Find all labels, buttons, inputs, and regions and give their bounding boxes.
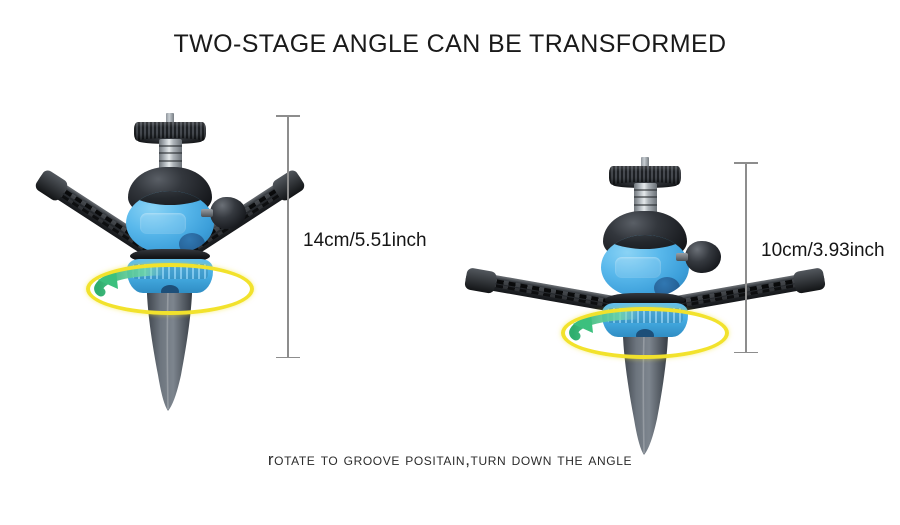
blue-ball-head [126,191,214,253]
black-locking-knob [685,241,721,273]
leg-foot [464,267,498,294]
yellow-rotation-ring [86,263,254,315]
dimension-left-label: 14cm/5.51inch [303,230,427,252]
product-illustration: TWO-STAGE ANGLE CAN BE TRANSFORMED [0,0,900,525]
blue-ball-head [601,235,689,297]
page-title: TWO-STAGE ANGLE CAN BE TRANSFORMED [0,30,900,59]
dimension-right-label: 10cm/3.93inch [761,240,885,262]
black-locking-knob [210,197,246,229]
instruction-caption: Rotate to groove positain,turn down the … [0,450,900,470]
leg-foot [792,267,826,294]
yellow-rotation-ring [561,307,729,359]
